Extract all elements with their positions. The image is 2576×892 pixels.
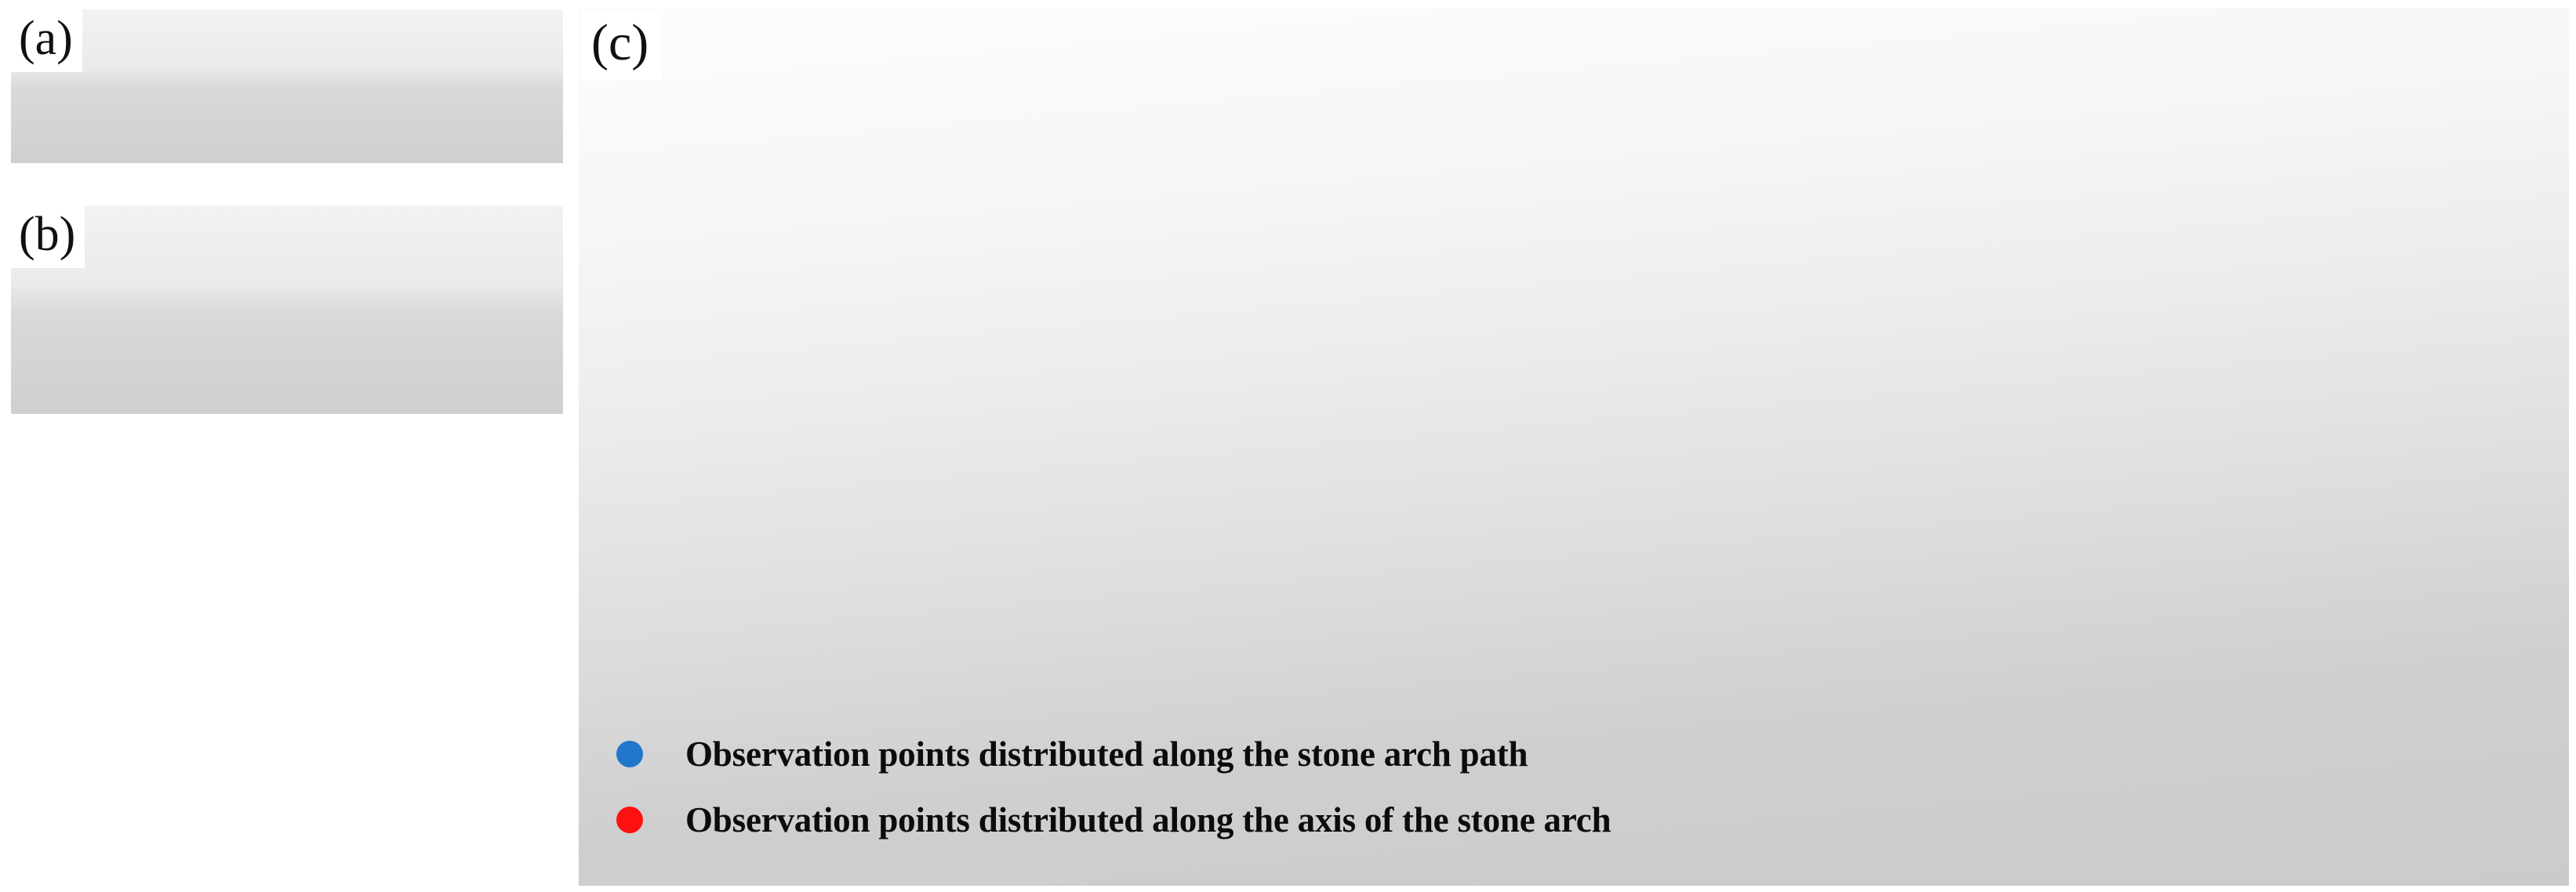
- red-observation-point-icon: [616, 807, 643, 833]
- legend-label-blue: Observation points distributed along the…: [685, 734, 1528, 774]
- legend-item-red: Observation points distributed along the…: [596, 787, 2564, 853]
- panel-a-background: [11, 9, 563, 163]
- legend: Observation points distributed along the…: [596, 721, 2564, 878]
- panel-b-background: [11, 205, 563, 414]
- blue-observation-point-icon: [616, 741, 643, 767]
- legend-item-blue: Observation points distributed along the…: [596, 721, 2564, 787]
- panel-a-label: (a): [11, 9, 82, 72]
- legend-label-red: Observation points distributed along the…: [685, 800, 1611, 840]
- panel-b-label: (b): [11, 205, 85, 268]
- panel-b-3d-mesh: [11, 205, 563, 414]
- figure-root: (a): [0, 0, 2576, 892]
- panel-c-label: (c): [582, 11, 661, 80]
- panel-a-2d-mesh: [11, 9, 563, 163]
